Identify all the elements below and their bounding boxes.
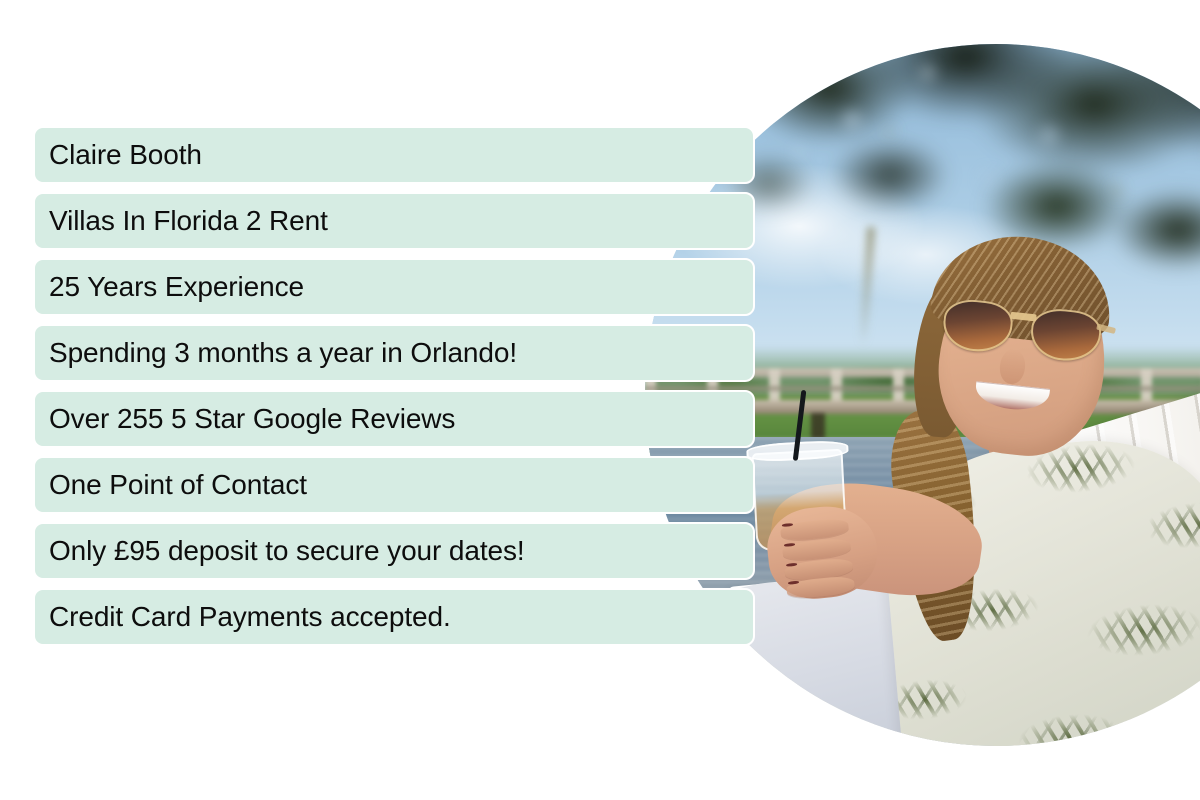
bullet-item-company: Villas In Florida 2 Rent (33, 192, 755, 250)
bullet-label: Over 255 5 Star Google Reviews (49, 405, 455, 433)
fingernail (781, 523, 793, 527)
fingernail (785, 563, 797, 567)
bullet-label: Villas In Florida 2 Rent (49, 207, 328, 235)
bullet-item-deposit: Only £95 deposit to secure your dates! (33, 522, 755, 580)
bullet-label: Spending 3 months a year in Orlando! (49, 339, 517, 367)
bullet-label: 25 Years Experience (49, 273, 304, 301)
sunglass-lens-left (941, 297, 1015, 355)
fingernail (783, 543, 795, 547)
bullet-label: Claire Booth (49, 141, 202, 169)
sunglass-lens-right (1029, 306, 1103, 364)
bullet-item-google-reviews: Over 255 5 Star Google Reviews (33, 390, 755, 448)
bullet-label: One Point of Contact (49, 471, 307, 499)
promo-card: Claire Booth Villas In Florida 2 Rent 25… (0, 0, 1200, 800)
bullet-label: Only £95 deposit to secure your dates! (49, 537, 525, 565)
bullet-item-experience: 25 Years Experience (33, 258, 755, 316)
sunglass-bridge (1011, 312, 1037, 322)
bullet-label: Credit Card Payments accepted. (49, 603, 451, 631)
bullet-item-point-of-contact: One Point of Contact (33, 456, 755, 514)
bullet-list: Claire Booth Villas In Florida 2 Rent 25… (33, 126, 755, 646)
bullet-item-name: Claire Booth (33, 126, 755, 184)
fingernail (787, 581, 799, 585)
bullet-item-orlando-time: Spending 3 months a year in Orlando! (33, 324, 755, 382)
bullet-item-payments: Credit Card Payments accepted. (33, 588, 755, 646)
